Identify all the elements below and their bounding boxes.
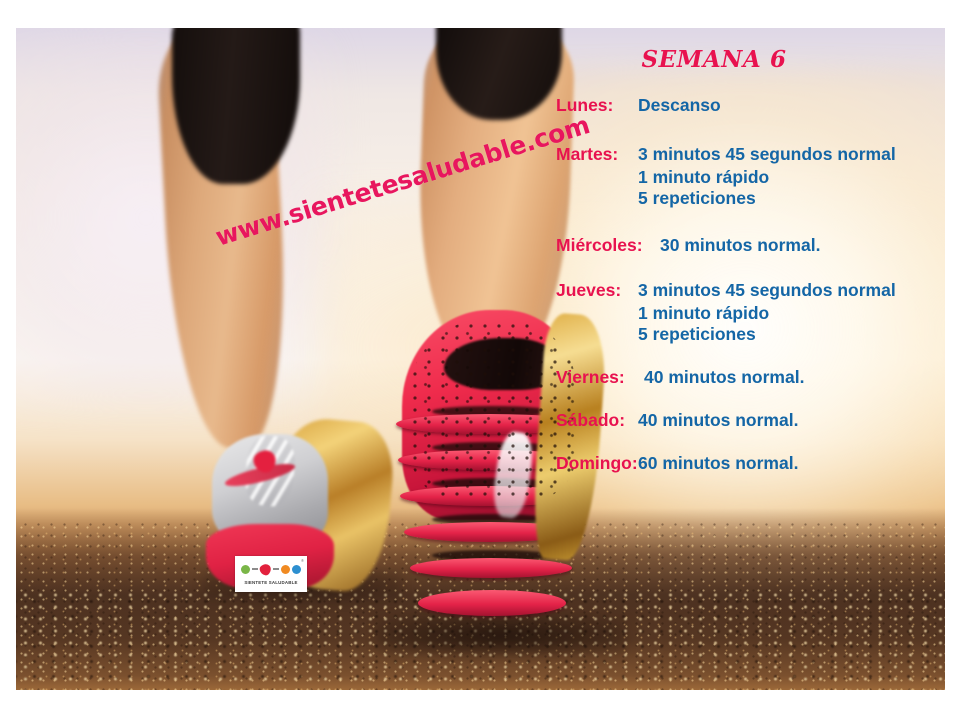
plan-row-miercoles: Miércoles: 30 minutos normal. xyxy=(556,235,952,256)
day-value: 40 minutos normal. xyxy=(638,410,798,431)
spacer xyxy=(556,345,952,367)
spacer xyxy=(556,209,952,235)
shoe-tread-bar xyxy=(410,558,572,578)
shoe-dirt-speckle xyxy=(408,320,578,500)
divider-icon xyxy=(252,568,258,570)
leaf-icon xyxy=(241,565,250,574)
day-label: Martes: xyxy=(556,144,638,165)
divider-icon xyxy=(273,568,279,570)
day-value: 30 minutos normal. xyxy=(660,235,820,256)
sun-icon xyxy=(281,565,290,574)
day-value: 3 minutos 45 segundos normal xyxy=(638,144,896,165)
logo-icon-row xyxy=(235,556,307,579)
brand-logo-patch: ® SIENTETE SALUDABLE xyxy=(235,556,307,592)
day-label: Viernes: xyxy=(556,367,638,388)
drop-icon xyxy=(292,565,301,574)
slide-canvas: ® SIENTETE SALUDABLE www.sientetesaludab… xyxy=(0,0,960,720)
day-label: Sábado: xyxy=(556,410,638,431)
logo-brand-text: SIENTETE SALUDABLE xyxy=(235,579,307,586)
plan-row-martes: Martes: 3 minutos 45 segundos normal xyxy=(556,144,952,165)
day-label: Jueves: xyxy=(556,280,638,301)
day-value: 3 minutos 45 segundos normal xyxy=(638,280,896,301)
spacer xyxy=(556,118,952,144)
weekly-plan: SEMANA 6 Lunes: Descanso Martes: 3 minut… xyxy=(556,46,952,476)
day-detail: 1 minuto rápido xyxy=(638,167,952,188)
day-value: 60 minutos normal. xyxy=(638,453,798,474)
plan-row-domingo: Domingo: 60 minutos normal. xyxy=(556,453,952,474)
plan-row-viernes: Viernes: 40 minutos normal. xyxy=(556,367,952,388)
plan-row-lunes: Lunes: Descanso xyxy=(556,95,952,116)
day-label: Miércoles: xyxy=(556,235,660,256)
page-title: SEMANA 6 xyxy=(564,46,864,73)
day-label: Lunes: xyxy=(556,95,638,116)
day-value: Descanso xyxy=(638,95,721,116)
plan-row-sabado: Sábado: 40 minutos normal. xyxy=(556,410,952,431)
shoe-tread-bar xyxy=(418,590,566,616)
day-label: Domingo: xyxy=(556,453,638,474)
spacer xyxy=(556,433,952,453)
day-detail: 1 minuto rápido xyxy=(638,303,952,324)
spacer xyxy=(556,390,952,410)
plan-row-jueves: Jueves: 3 minutos 45 segundos normal xyxy=(556,280,952,301)
spacer xyxy=(556,258,952,280)
day-value: 40 minutos normal. xyxy=(638,367,804,388)
day-detail: 5 repeticiones xyxy=(638,188,952,209)
day-detail: 5 repeticiones xyxy=(638,324,952,345)
registered-trademark-icon: ® xyxy=(301,558,304,563)
heart-icon xyxy=(258,561,274,577)
